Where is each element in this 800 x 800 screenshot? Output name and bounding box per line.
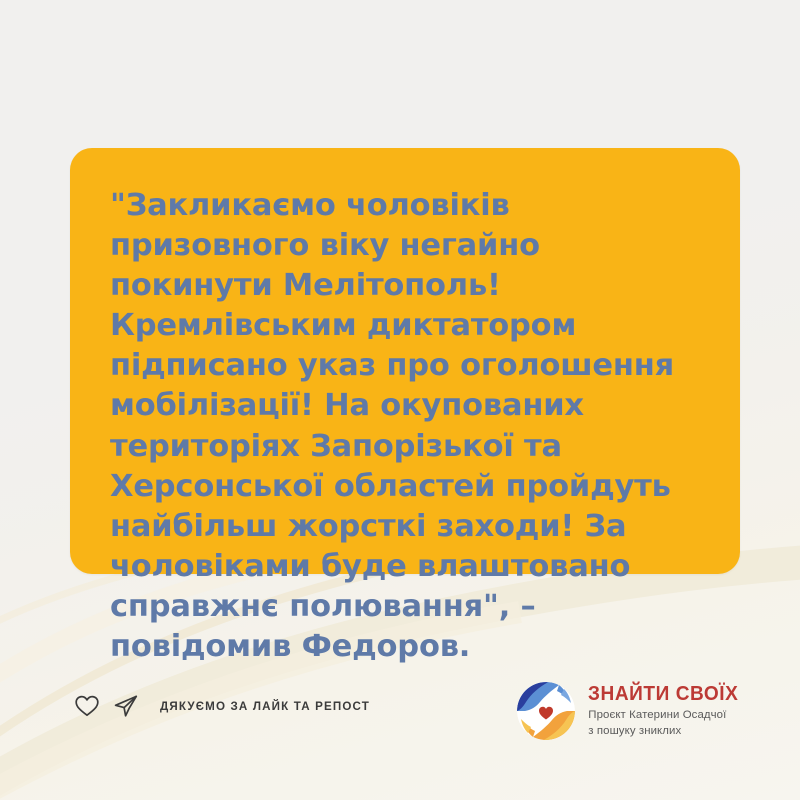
brand-lockup: ЗНАЙТИ СВОЇХ Проєкт Катерини Осадчої з п… xyxy=(515,680,750,742)
brand-words: ЗНАЙТИ СВОЇХ Проєкт Катерини Осадчої з п… xyxy=(588,683,750,740)
heart-outline-icon[interactable] xyxy=(74,694,100,718)
social-cta-label: ДЯКУЄМО ЗА ЛАЙК ТА РЕПОСТ xyxy=(160,700,370,713)
poster-canvas: "Закликаємо чоловіків призовного віку не… xyxy=(0,0,800,800)
quote-text: "Закликаємо чоловіків призовного віку не… xyxy=(110,186,706,667)
hands-heart-logo-icon xyxy=(515,680,577,742)
footer: ДЯКУЄМО ЗА ЛАЙК ТА РЕПОСТ xyxy=(0,672,800,752)
brand-tagline-line-1: Проєкт Катерини Осадчої xyxy=(588,707,750,723)
quote-card: "Закликаємо чоловіків призовного віку не… xyxy=(70,148,740,574)
brand-name: ЗНАЙТИ СВОЇХ xyxy=(588,683,738,705)
social-cta: ДЯКУЄМО ЗА ЛАЙК ТА РЕПОСТ xyxy=(74,694,370,718)
brand-tagline-line-2: з пошуку зниклих xyxy=(588,723,750,739)
paper-plane-icon[interactable] xyxy=(113,694,139,718)
